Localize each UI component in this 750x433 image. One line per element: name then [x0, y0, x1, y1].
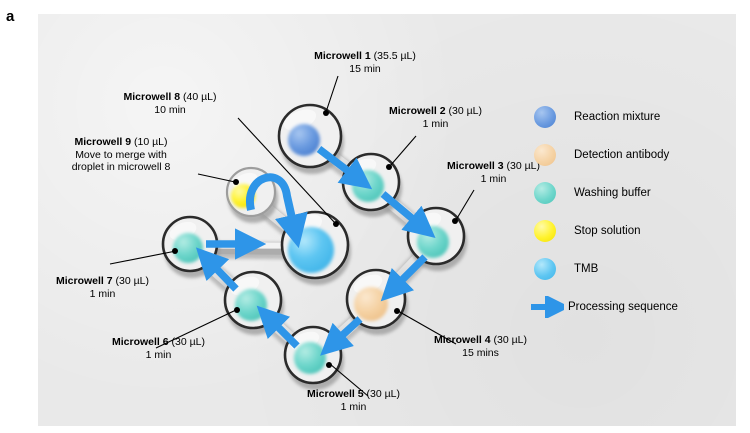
- legend-item-stop-solution: Stop solution: [530, 212, 736, 250]
- droplet-microwell-6: [235, 289, 267, 321]
- label-microwell-6: Microwell 6 (30 µL) 1 min: [86, 336, 231, 361]
- legend: Reaction mixture Detection antibody Wash…: [530, 98, 736, 326]
- stop-solution-swatch-icon: [534, 220, 556, 242]
- label-microwell-6-volume: (30 µL): [172, 336, 205, 348]
- processing-sequence-arrow-icon: [530, 296, 560, 318]
- tmb-swatch-icon: [534, 258, 556, 280]
- label-microwell-4-volume: (30 µL): [494, 334, 527, 346]
- label-microwell-2-time: 1 min: [363, 118, 508, 131]
- label-microwell-4: Microwell 4 (30 µL) 15 mins: [408, 334, 553, 359]
- label-microwell-2-name: Microwell 2: [389, 105, 446, 117]
- label-microwell-9-note-line2: droplet in microwell 8: [45, 161, 197, 174]
- label-microwell-8: Microwell 8 (40 µL) 10 min: [95, 91, 245, 116]
- panel-letter-label: a: [6, 8, 14, 25]
- legend-label-stop-solution: Stop solution: [574, 225, 641, 237]
- label-microwell-1-time: 15 min: [290, 63, 440, 76]
- legend-item-reaction-mixture: Reaction mixture: [530, 98, 736, 136]
- label-microwell-9-name: Microwell 9: [74, 136, 131, 148]
- droplet-microwell-3: [417, 226, 449, 258]
- microwell-network-diagram: Microwell 1 (35.5 µL) 15 min Microwell 2…: [38, 14, 538, 426]
- figure-panel: Microwell 1 (35.5 µL) 15 min Microwell 2…: [38, 14, 736, 426]
- microwell-network-svg: [38, 14, 538, 426]
- label-microwell-7-volume: (30 µL): [116, 275, 149, 287]
- droplet-microwell-1: [288, 124, 320, 156]
- label-microwell-7: Microwell 7 (30 µL) 1 min: [38, 275, 175, 300]
- legend-label-processing-sequence: Processing sequence: [568, 301, 678, 313]
- label-microwell-9-note-line1: Move to merge with: [45, 149, 197, 162]
- label-microwell-4-name: Microwell 4: [434, 334, 491, 346]
- legend-item-washing-buffer: Washing buffer: [530, 174, 736, 212]
- droplet-microwell-7: [173, 233, 203, 263]
- legend-label-detection-antibody: Detection antibody: [574, 149, 669, 161]
- label-microwell-1-name: Microwell 1: [314, 50, 371, 62]
- droplet-microwell-4: [354, 287, 388, 321]
- droplet-microwell-5: [294, 342, 326, 374]
- legend-item-processing-sequence: Processing sequence: [530, 288, 736, 326]
- legend-label-tmb: TMB: [574, 263, 598, 275]
- label-microwell-8-volume: (40 µL): [183, 91, 216, 103]
- label-microwell-1: Microwell 1 (35.5 µL) 15 min: [290, 50, 440, 75]
- reaction-mixture-swatch-icon: [534, 106, 556, 128]
- label-microwell-6-name: Microwell 6: [112, 336, 169, 348]
- label-microwell-9-volume: (10 µL): [134, 136, 167, 148]
- label-microwell-2-volume: (30 µL): [449, 105, 482, 117]
- label-microwell-5-volume: (30 µL): [367, 388, 400, 400]
- label-microwell-3-name: Microwell 3: [447, 160, 504, 172]
- label-microwell-4-time: 15 mins: [408, 347, 553, 360]
- label-microwell-5-name: Microwell 5: [307, 388, 364, 400]
- label-microwell-2: Microwell 2 (30 µL) 1 min: [363, 105, 508, 130]
- label-microwell-8-name: Microwell 8: [123, 91, 180, 103]
- label-microwell-8-time: 10 min: [95, 104, 245, 117]
- legend-label-reaction-mixture: Reaction mixture: [574, 111, 660, 123]
- legend-label-washing-buffer: Washing buffer: [574, 187, 651, 199]
- label-microwell-7-time: 1 min: [38, 288, 175, 301]
- legend-item-detection-antibody: Detection antibody: [530, 136, 736, 174]
- droplet-microwell-8: [288, 227, 334, 273]
- detection-antibody-swatch-icon: [534, 144, 556, 166]
- label-microwell-5: Microwell 5 (30 µL) 1 min: [281, 388, 426, 413]
- label-microwell-9: Microwell 9 (10 µL) Move to merge with d…: [45, 136, 197, 174]
- label-microwell-6-time: 1 min: [86, 349, 231, 362]
- legend-item-tmb: TMB: [530, 250, 736, 288]
- washing-buffer-swatch-icon: [534, 182, 556, 204]
- label-microwell-5-time: 1 min: [281, 401, 426, 414]
- label-microwell-7-name: Microwell 7: [56, 275, 113, 287]
- label-microwell-1-volume: (35.5 µL): [374, 50, 416, 62]
